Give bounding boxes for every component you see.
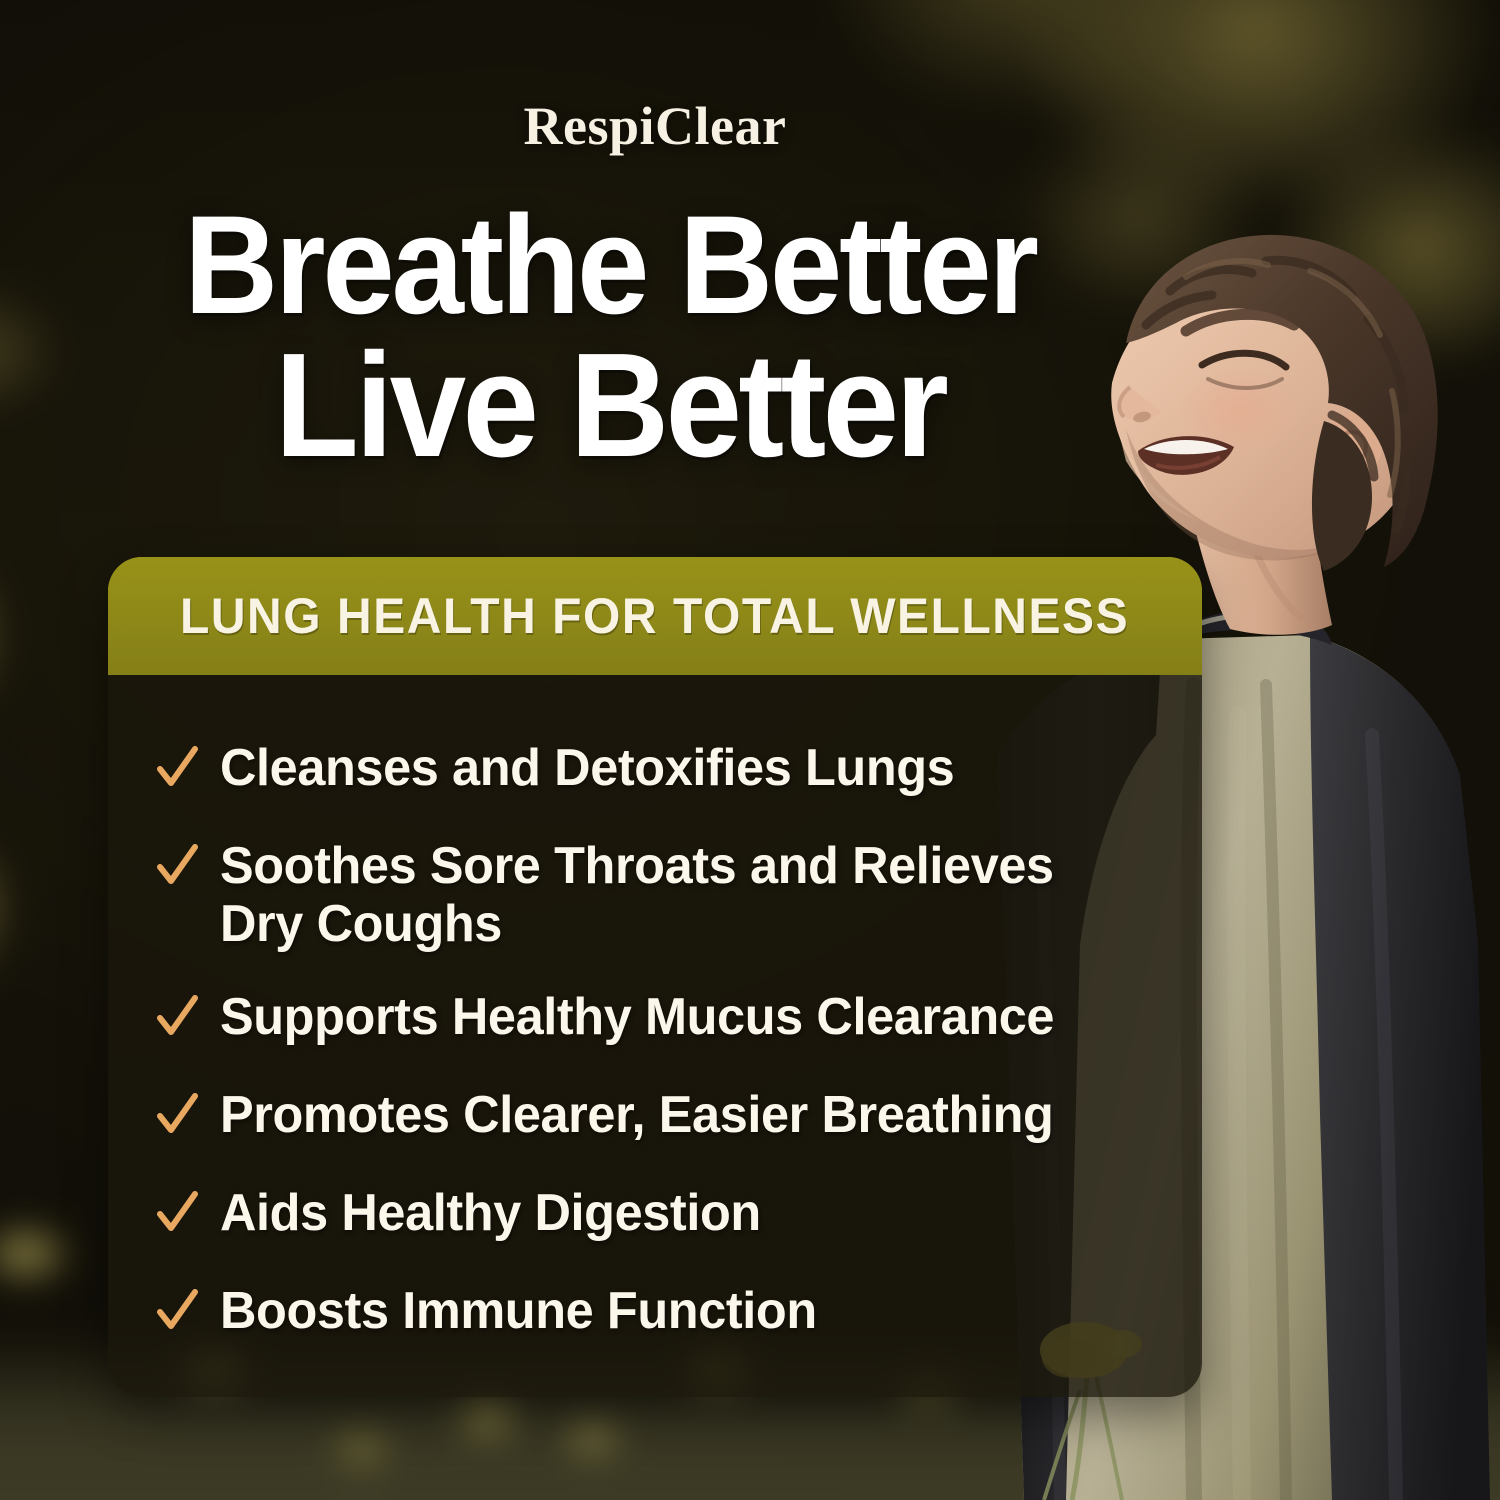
- page-title: Breathe Better Live Better: [0, 196, 1220, 478]
- benefit-label: Cleanses and Detoxifies Lungs: [220, 739, 954, 797]
- headline-line-1: Breathe Better: [43, 196, 1178, 333]
- benefits-list: Cleanses and Detoxifies Lungs Soothes So…: [108, 675, 1202, 1341]
- card-banner: LUNG HEALTH FOR TOTAL WELLNESS: [108, 557, 1202, 675]
- check-icon: [156, 1188, 198, 1236]
- benefits-card: LUNG HEALTH FOR TOTAL WELLNESS Cleanses …: [108, 557, 1202, 1397]
- check-icon: [156, 841, 198, 889]
- promo-banner: RespiClear Breathe Better Live Better LU…: [0, 0, 1500, 1500]
- headline-line-2: Live Better: [43, 333, 1178, 478]
- check-icon: [156, 1286, 198, 1334]
- list-item: Soothes Sore Throats and Relieves Dry Co…: [156, 837, 1142, 953]
- benefit-label: Promotes Clearer, Easier Breathing: [220, 1086, 1053, 1144]
- list-item: Boosts Immune Function: [156, 1282, 1142, 1340]
- benefit-label: Soothes Sore Throats and Relieves Dry Co…: [220, 837, 1074, 953]
- benefit-label: Boosts Immune Function: [220, 1282, 817, 1340]
- check-icon: [156, 1090, 198, 1138]
- list-item: Cleanses and Detoxifies Lungs: [156, 739, 1142, 797]
- card-banner-label: LUNG HEALTH FOR TOTAL WELLNESS: [180, 587, 1129, 645]
- brand-logo-text: RespiClear: [0, 95, 1310, 157]
- benefit-label: Aids Healthy Digestion: [220, 1184, 761, 1242]
- check-icon: [156, 992, 198, 1040]
- check-icon: [156, 743, 198, 791]
- list-item: Supports Healthy Mucus Clearance: [156, 988, 1142, 1046]
- list-item: Aids Healthy Digestion: [156, 1184, 1142, 1242]
- benefit-label: Supports Healthy Mucus Clearance: [220, 988, 1054, 1046]
- list-item: Promotes Clearer, Easier Breathing: [156, 1086, 1142, 1144]
